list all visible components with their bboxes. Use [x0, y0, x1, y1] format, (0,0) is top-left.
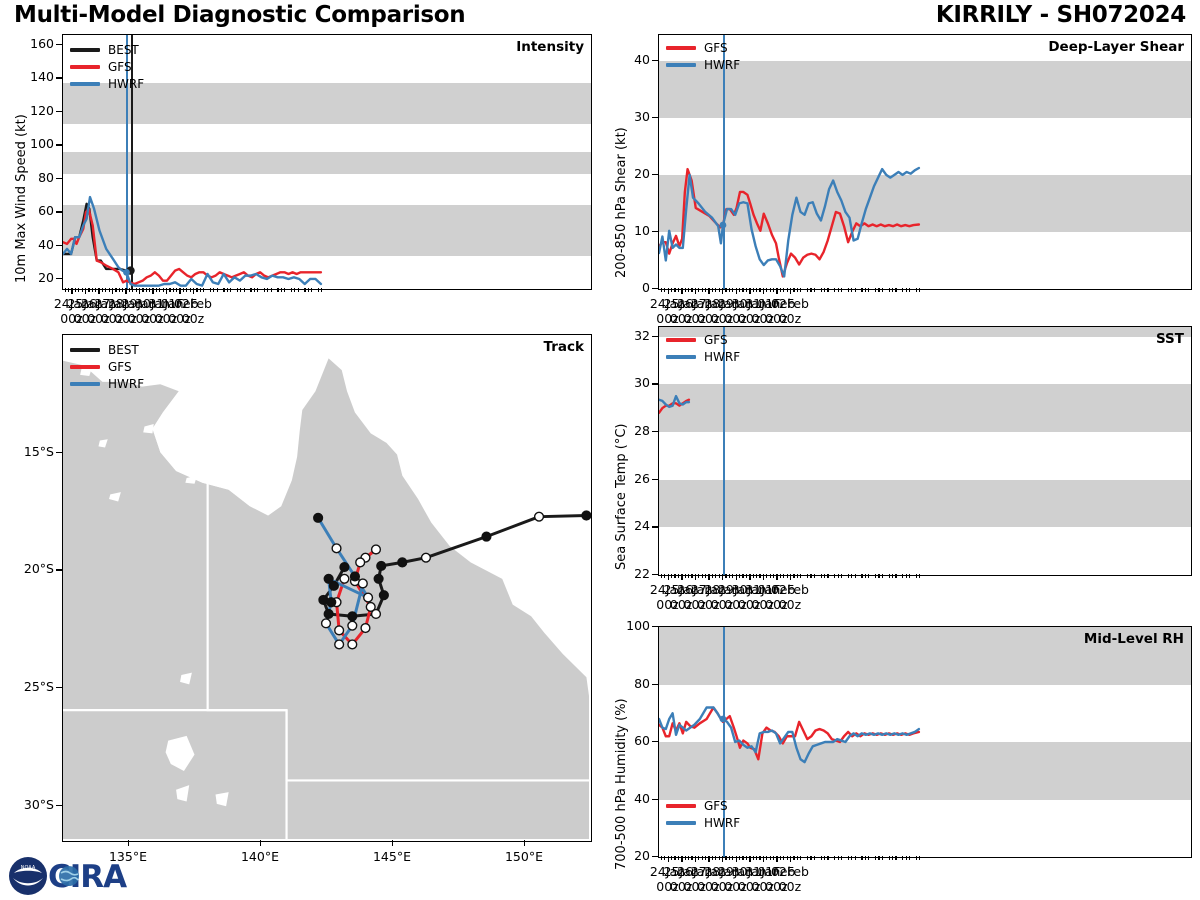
track-point-marker — [364, 593, 373, 602]
y-tick-mark — [652, 574, 658, 575]
track-point-marker — [340, 563, 349, 572]
legend-label-gfs: GFS — [704, 42, 728, 54]
noaa-icon: NOAA — [8, 856, 48, 896]
y-tick-mark — [56, 178, 62, 179]
y-tick-label: 20 — [608, 848, 650, 863]
panel-track: Track BEST GFS HWRF 135°E140°E145°E150°E… — [0, 330, 600, 890]
legend-row-gfs-track: GFS — [70, 359, 144, 374]
track-map-graphic — [63, 335, 591, 841]
y-tick-mark — [652, 479, 658, 480]
y-tick-mark — [652, 684, 658, 685]
legend-row-hwrf-shear: HWRF — [666, 57, 740, 72]
y-tick-mark — [652, 741, 658, 742]
track-point-marker — [324, 610, 333, 619]
legend-label-hwrf: HWRF — [108, 378, 144, 390]
y-tick-mark — [652, 288, 658, 289]
y-tick-label: 40 — [608, 791, 650, 806]
y-tick-label: 30 — [608, 375, 650, 390]
map-y-tick-label: 20°S — [6, 561, 54, 576]
y-tick-mark — [652, 336, 658, 337]
shear-ylabel: 200-850 hPa Shear (kt) — [614, 127, 629, 278]
rh-corner-label: Mid-Level RH — [1084, 631, 1184, 647]
y-tick-label: 60 — [12, 203, 54, 218]
y-tick-label: 160 — [12, 36, 54, 51]
map-y-tick-mark — [56, 687, 62, 688]
track-point-marker — [348, 640, 357, 649]
y-tick-label: 28 — [608, 423, 650, 438]
y-tick-mark — [652, 231, 658, 232]
legend-swatch-hwrf — [666, 355, 696, 359]
y-tick-mark — [652, 174, 658, 175]
map-y-tick-label: 15°S — [6, 444, 54, 459]
shear-legend: GFS HWRF — [666, 40, 740, 74]
map-x-tick-label: 150°E — [489, 849, 559, 864]
y-tick-mark — [56, 211, 62, 212]
y-tick-mark — [652, 626, 658, 627]
track-point-marker — [348, 612, 357, 621]
track-map-area[interactable]: Track — [62, 334, 592, 842]
y-tick-mark — [652, 117, 658, 118]
y-tick-mark — [56, 111, 62, 112]
legend-swatch-hwrf — [666, 821, 696, 825]
legend-label-best: BEST — [108, 344, 139, 356]
cira-icon: CIRA — [48, 857, 140, 895]
legend-row-best: BEST — [70, 42, 144, 57]
series-line-gfs — [659, 169, 919, 276]
rh-ylabel: 700-500 hPa Humidity (%) — [614, 698, 629, 870]
sst-legend: GFS HWRF — [666, 332, 740, 366]
legend-swatch-gfs — [70, 65, 100, 69]
track-point-marker — [398, 558, 407, 567]
y-tick-label: 40 — [608, 52, 650, 67]
map-x-tick-label: 145°E — [357, 849, 427, 864]
y-tick-mark — [56, 144, 62, 145]
legend-label-hwrf: HWRF — [704, 59, 740, 71]
y-tick-label: 20 — [608, 166, 650, 181]
map-y-tick-mark — [56, 805, 62, 806]
legend-swatch-gfs — [666, 804, 696, 808]
rh-legend: GFS HWRF — [666, 798, 740, 832]
legend-label-gfs: GFS — [108, 61, 132, 73]
y-tick-label: 30 — [608, 109, 650, 124]
legend-row-best-track: BEST — [70, 342, 144, 357]
legend-row-hwrf-track: HWRF — [70, 376, 144, 391]
legend-swatch-gfs — [666, 338, 696, 342]
map-x-tick-mark — [260, 840, 261, 846]
analysis-point-marker — [720, 222, 727, 229]
track-point-marker — [358, 579, 367, 588]
track-point-marker — [377, 562, 386, 571]
y-tick-label: 80 — [12, 170, 54, 185]
y-tick-label: 24 — [608, 518, 650, 533]
map-x-tick-mark — [128, 840, 129, 846]
legend-swatch-hwrf — [70, 82, 100, 86]
y-tick-label: 100 — [12, 136, 54, 151]
legend-label-gfs: GFS — [704, 800, 728, 812]
page-title-right: KIRRILY - SH072024 — [936, 2, 1186, 28]
track-point-marker — [314, 513, 323, 522]
legend-swatch-hwrf — [666, 63, 696, 67]
panel-sst: Sea Surface Temp (°C) SST GFS HWRF 22242… — [600, 320, 1200, 610]
panel-intensity: 10m Max Wind Speed (kt) Intensity BEST G… — [0, 28, 600, 320]
map-x-tick-label: 140°E — [225, 849, 295, 864]
legend-row-hwrf-sst: HWRF — [666, 349, 740, 364]
y-tick-mark — [652, 431, 658, 432]
track-point-marker — [482, 532, 491, 541]
track-point-marker — [356, 558, 365, 567]
track-point-marker — [374, 574, 383, 583]
y-tick-mark — [652, 856, 658, 857]
y-tick-label: 32 — [608, 328, 650, 343]
series-line-gfs — [63, 209, 321, 284]
y-tick-label: 140 — [12, 69, 54, 84]
legend-row-gfs-shear: GFS — [666, 40, 740, 55]
sst-corner-label: SST — [1156, 331, 1184, 347]
track-point-marker — [422, 553, 431, 562]
legend-swatch-gfs — [70, 365, 100, 369]
track-point-marker — [335, 626, 344, 635]
track-point-marker — [366, 603, 375, 612]
track-point-marker — [361, 624, 370, 633]
legend-swatch-hwrf — [70, 382, 100, 386]
track-point-marker — [348, 621, 357, 630]
svg-text:NOAA: NOAA — [21, 865, 36, 871]
track-point-marker — [351, 572, 360, 581]
sst-ylabel: Sea Surface Temp (°C) — [614, 423, 629, 570]
legend-swatch-gfs — [666, 46, 696, 50]
legend-label-gfs: GFS — [108, 361, 132, 373]
track-point-marker — [335, 640, 344, 649]
y-tick-label: 26 — [608, 471, 650, 486]
map-y-tick-label: 25°S — [6, 679, 54, 694]
y-tick-mark — [56, 77, 62, 78]
logo-group: NOAA CIRA — [8, 856, 140, 896]
page-title-left: Multi-Model Diagnostic Comparison — [14, 2, 465, 28]
y-tick-mark — [652, 60, 658, 61]
track-point-marker — [322, 619, 331, 628]
legend-row-gfs: GFS — [70, 59, 144, 74]
track-point-marker — [324, 574, 333, 583]
diagnostic-dashboard: Multi-Model Diagnostic Comparison KIRRIL… — [0, 0, 1200, 900]
y-tick-mark — [56, 278, 62, 279]
intensity-corner-label: Intensity — [516, 39, 584, 55]
track-corner-label: Track — [544, 339, 584, 355]
legend-row-gfs-sst: GFS — [666, 332, 740, 347]
y-tick-label: 120 — [12, 103, 54, 118]
legend-label-best: BEST — [108, 44, 139, 56]
map-y-tick-label: 30°S — [6, 797, 54, 812]
track-legend: BEST GFS HWRF — [70, 342, 144, 393]
map-x-tick-mark — [392, 840, 393, 846]
intensity-legend: BEST GFS HWRF — [70, 42, 144, 93]
panel-rh: 700-500 hPa Humidity (%) Mid-Level RH GF… — [600, 608, 1200, 900]
series-line-hwrf — [659, 708, 919, 763]
y-tick-label: 80 — [608, 676, 650, 691]
y-tick-mark — [652, 799, 658, 800]
track-point-marker — [372, 545, 381, 554]
y-tick-mark — [56, 245, 62, 246]
shear-corner-label: Deep-Layer Shear — [1048, 39, 1184, 55]
legend-swatch-best — [70, 48, 100, 52]
track-point-marker — [332, 544, 341, 553]
track-point-marker — [582, 511, 591, 520]
panel-shear: 200-850 hPa Shear (kt) Deep-Layer Shear … — [600, 28, 1200, 320]
y-tick-mark — [652, 526, 658, 527]
x-tick-label: 02Feb00z — [159, 296, 227, 326]
legend-row-hwrf-rh: HWRF — [666, 815, 740, 830]
y-tick-label: 22 — [608, 566, 650, 581]
legend-row-gfs-rh: GFS — [666, 798, 740, 813]
y-tick-mark — [56, 44, 62, 45]
track-point-marker — [340, 574, 349, 583]
analysis-point-marker — [720, 716, 727, 723]
x-tick-label: 02Feb00z — [756, 864, 824, 894]
legend-label-hwrf: HWRF — [704, 351, 740, 363]
y-tick-label: 40 — [12, 237, 54, 252]
analysis-point-marker — [123, 269, 130, 276]
legend-label-hwrf: HWRF — [704, 817, 740, 829]
track-point-marker — [327, 598, 336, 607]
y-tick-label: 100 — [608, 618, 650, 633]
track-point-marker — [535, 512, 544, 521]
map-y-tick-mark — [56, 569, 62, 570]
legend-label-gfs: GFS — [704, 334, 728, 346]
legend-swatch-best — [70, 348, 100, 352]
track-point-marker — [379, 591, 388, 600]
legend-label-hwrf: HWRF — [108, 78, 144, 90]
y-tick-label: 0 — [608, 280, 650, 295]
legend-row-hwrf: HWRF — [70, 76, 144, 91]
y-tick-label: 20 — [12, 270, 54, 285]
y-tick-label: 10 — [608, 223, 650, 238]
map-x-tick-mark — [524, 840, 525, 846]
y-tick-label: 60 — [608, 733, 650, 748]
y-tick-mark — [652, 383, 658, 384]
map-y-tick-mark — [56, 452, 62, 453]
